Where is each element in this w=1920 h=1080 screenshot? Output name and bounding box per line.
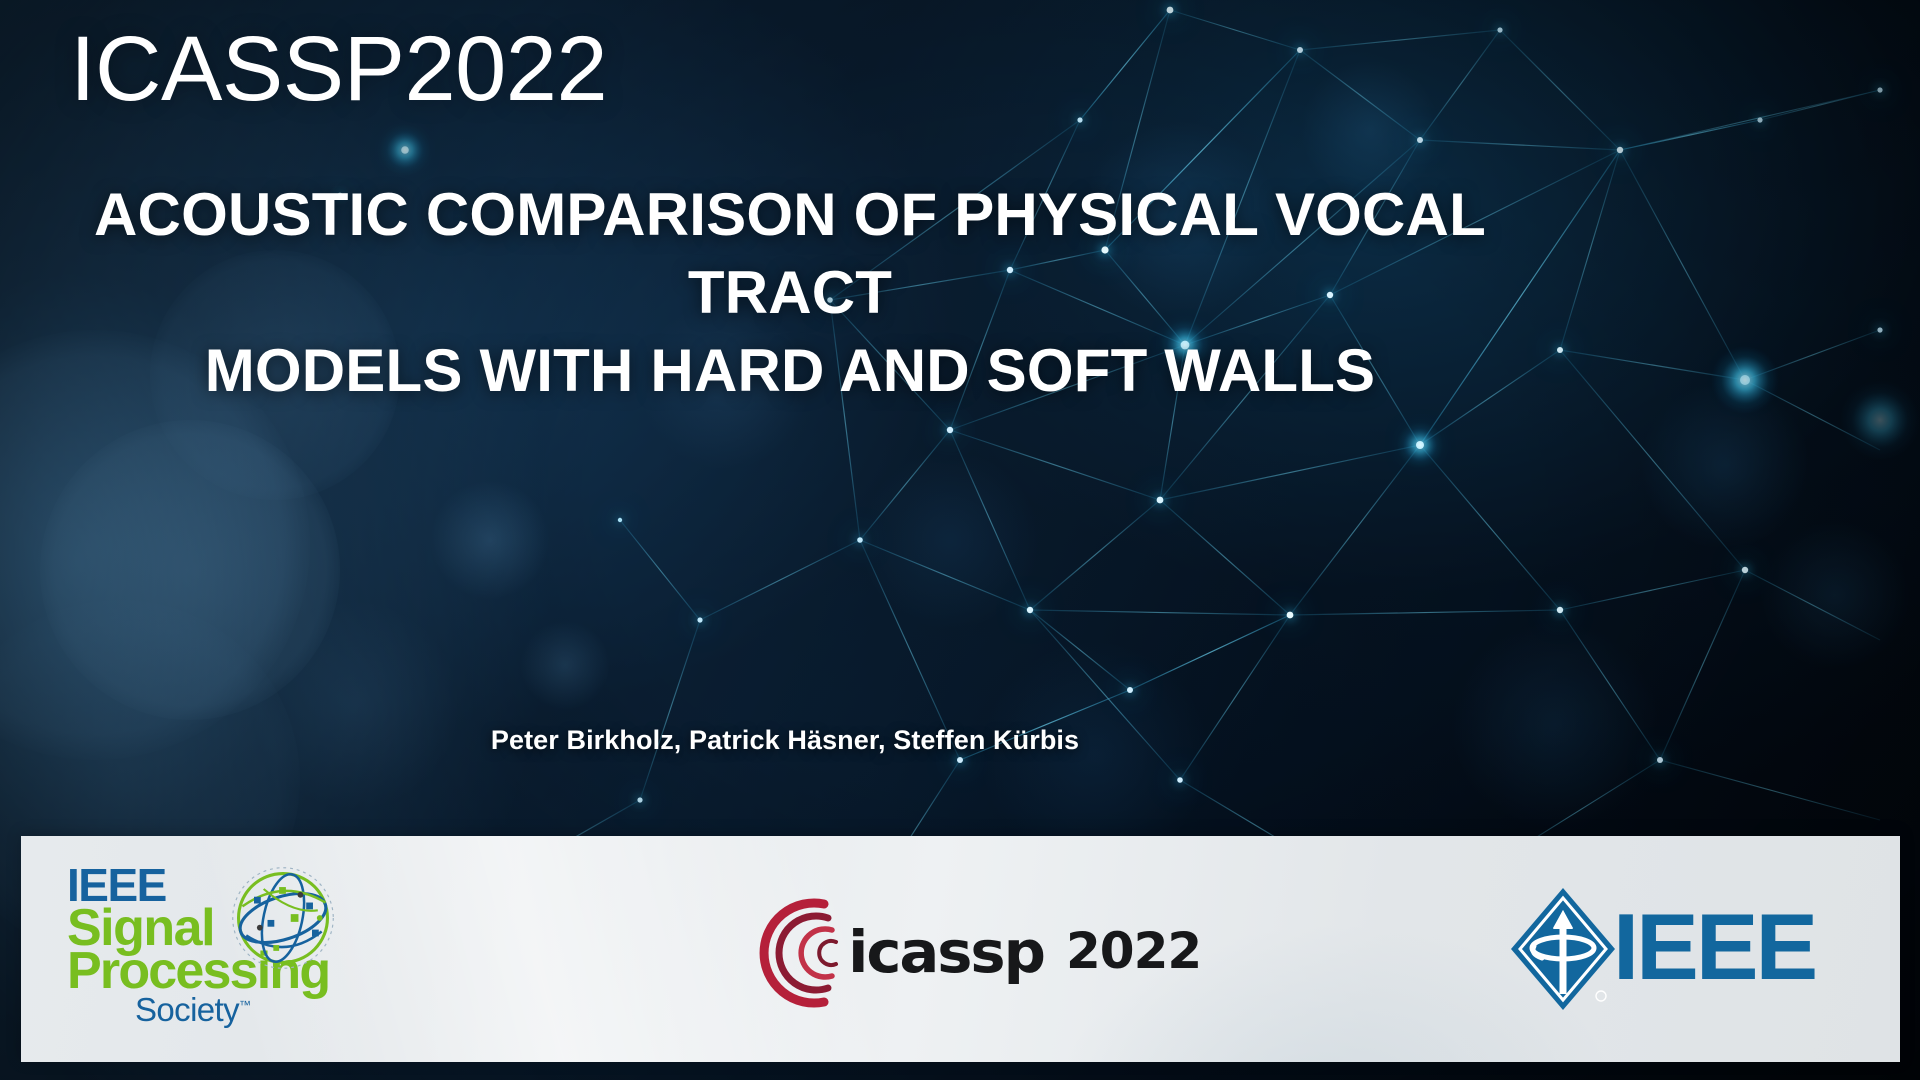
paper-title-line-1: ACOUSTIC COMPARISON OF PHYSICAL VOCAL TR… — [90, 176, 1490, 332]
ieee-logo: IEEE — [1503, 884, 1823, 1014]
ieee-wordmark: IEEE — [1613, 900, 1815, 994]
page-title: ACOUSTIC COMPARISON OF PHYSICAL VOCAL TR… — [90, 176, 1490, 410]
sps-globe-network-icon — [225, 860, 341, 976]
paper-title-line-2: MODELS WITH HARD AND SOFT WALLS — [90, 332, 1490, 410]
sps-society-label: Society — [135, 991, 239, 1028]
sps-trademark-symbol: ™ — [239, 998, 250, 1012]
icassp-2022-logo: icassp 2022 — [756, 898, 1186, 1008]
ieee-sps-logo: IEEE Signal Processing Society™ — [63, 856, 333, 1042]
conference-brand-title: ICASSP2022 — [70, 18, 607, 121]
presentation-title-slide: ICASSP2022 ACOUSTIC COMPARISON OF PHYSIC… — [0, 0, 1920, 1080]
ieee-diamond-kite-icon — [1503, 884, 1623, 1014]
footer-logo-bar: IEEE Signal Processing Society™ — [21, 836, 1900, 1062]
icassp-year-text: 2022 — [1066, 922, 1201, 980]
author-list: Peter Birkholz, Patrick Häsner, Steffen … — [0, 725, 1570, 756]
icassp-wordmark: icassp — [848, 918, 1044, 986]
